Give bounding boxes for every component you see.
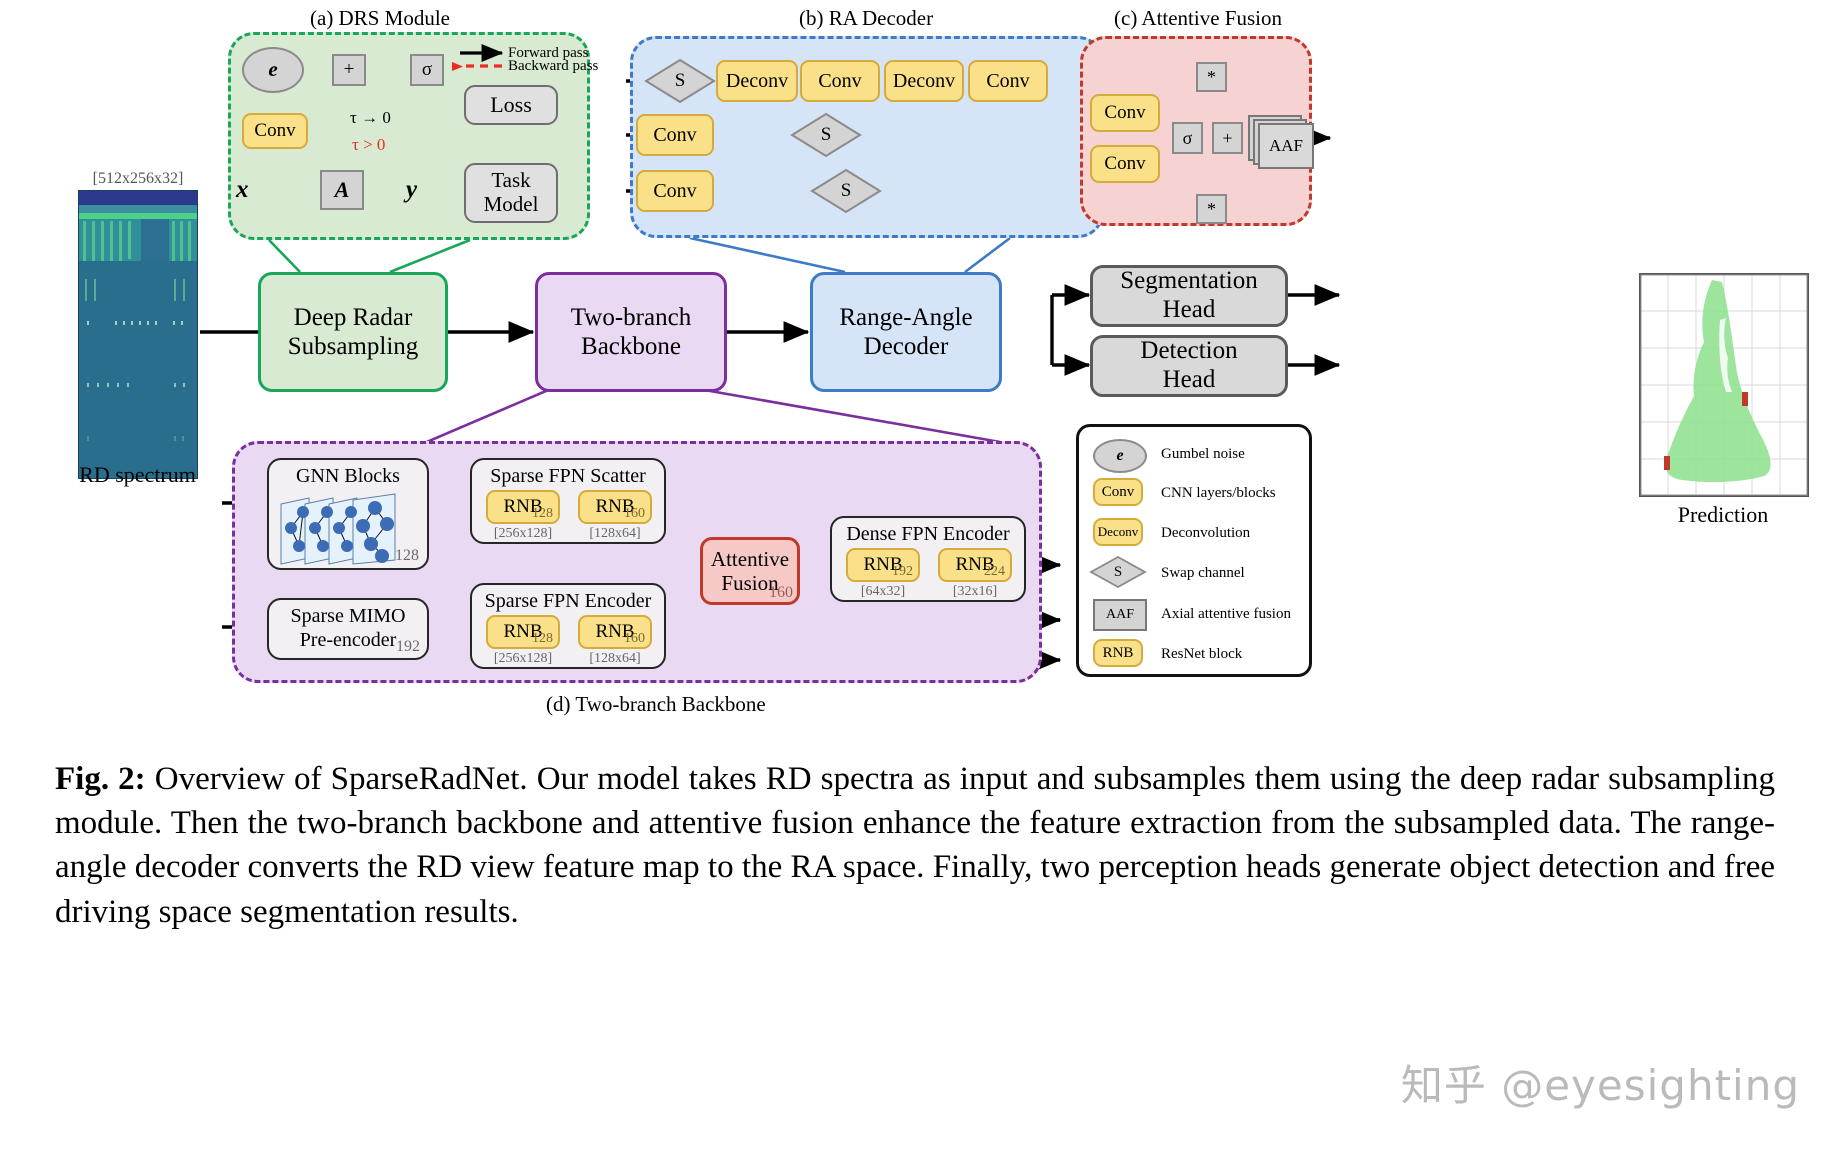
stage-drs-label: Deep Radar Subsampling xyxy=(288,303,419,362)
legend-swap-icon: S xyxy=(1089,555,1147,589)
sparse-fpn-encoder-title: Sparse FPN Encoder xyxy=(472,590,664,613)
symbol-legend: e Gumbel noise Conv CNN layers/blocks De… xyxy=(1076,424,1312,677)
encoder-rnb-block-2: RNB 160 xyxy=(578,615,652,649)
af-sigma-label: σ xyxy=(1183,128,1193,148)
dense-rnb-block-1: RNB 192 xyxy=(846,548,920,582)
gnn-blocks-group: GNN Blocks xyxy=(267,458,429,570)
detection-head[interactable]: Detection Head xyxy=(1090,335,1288,397)
af-conv-bottom: Conv xyxy=(1090,145,1160,183)
attentive-fusion-channels: 160 xyxy=(769,584,793,602)
af-conv-bottom-label: Conv xyxy=(1104,153,1145,174)
legend-gumbel-label: Gumbel noise xyxy=(1161,446,1245,463)
af-multiply-bottom: * xyxy=(1196,194,1227,224)
dense-rnb-channels-1: 192 xyxy=(892,564,913,580)
figure-root: [512x256x32] xyxy=(0,0,1822,1168)
tau-positive-annotation: τ > 0 xyxy=(352,135,385,155)
swap-channel-diamond-3: S xyxy=(810,168,882,214)
legend-conv-label: CNN layers/blocks xyxy=(1161,485,1276,502)
gumbel-noise-label: e xyxy=(268,58,277,82)
tau-to-zero-annotation: τ → 0 xyxy=(350,108,391,128)
ra-conv-label-3: Conv xyxy=(653,124,696,146)
ra-deconv-label-1: Deconv xyxy=(726,70,788,92)
input-shape-label: [512x256x32] xyxy=(78,170,198,188)
scatter-rnb-shape-1: [256x128] xyxy=(486,526,560,542)
swap-channel-diamond-2: S xyxy=(790,112,862,158)
panel-c-title: (c) Attentive Fusion xyxy=(1114,6,1282,31)
scatter-rnb-shape-2: [128x64] xyxy=(578,526,652,542)
ra-conv-label-4: Conv xyxy=(653,180,696,202)
legend-deconv-symbol: Deconv xyxy=(1098,525,1138,540)
prediction-caption: Prediction xyxy=(1639,502,1807,528)
legend-aaf-label: Axial attentive fusion xyxy=(1161,606,1291,623)
aaf-stack-block: AAF xyxy=(1248,115,1312,165)
legend-conv-icon: Conv xyxy=(1093,478,1143,506)
gnn-channel-count: 128 xyxy=(395,547,419,565)
subsampling-matrix-node: A xyxy=(320,170,364,210)
stage-two-branch-backbone[interactable]: Two-branch Backbone xyxy=(535,272,727,392)
figure-caption-label: Fig. 2: xyxy=(55,761,146,797)
ra-conv-block-3: Conv xyxy=(636,114,714,156)
stage-decoder-label: Range-Angle Decoder xyxy=(839,303,972,362)
ra-deconv-block-1: Deconv xyxy=(716,60,798,102)
legend-rnb-icon: RNB xyxy=(1093,639,1143,667)
prediction-image xyxy=(1639,273,1809,497)
legend-gumbel-symbol: e xyxy=(1116,447,1123,465)
dense-rnb-shape-1: [64x32] xyxy=(846,584,920,600)
aaf-label: AAF xyxy=(1269,136,1303,156)
task-model-block: Task Model xyxy=(464,163,558,223)
sparse-fpn-scatter-title: Sparse FPN Scatter xyxy=(472,465,664,488)
dense-fpn-encoder-group: Dense FPN Encoder RNB 192 [64x32] RNB 22… xyxy=(830,516,1026,602)
swap-channel-diamond-1: S xyxy=(644,58,716,104)
af-add-label: + xyxy=(1222,128,1232,148)
encoder-rnb-shape-1: [256x128] xyxy=(486,651,560,667)
af-multiply-top: * xyxy=(1196,62,1227,92)
loss-label: Loss xyxy=(490,93,532,118)
af-sigma-operator: σ xyxy=(1172,122,1203,154)
sigmoid-operator-label: σ xyxy=(422,59,432,80)
ra-conv-block-4: Conv xyxy=(636,170,714,212)
add-operator: + xyxy=(332,54,366,86)
legend-deconv-label: Deconvolution xyxy=(1161,525,1250,542)
task-model-label: Task Model xyxy=(484,169,539,216)
encoder-rnb-shape-2: [128x64] xyxy=(578,651,652,667)
legend-aaf-icon: AAF xyxy=(1093,599,1147,631)
output-y-symbol: y xyxy=(406,176,417,204)
ra-conv-block-2: Conv xyxy=(968,60,1048,102)
legend-gumbel-icon: e xyxy=(1093,439,1147,473)
stage-range-angle-decoder[interactable]: Range-Angle Decoder xyxy=(810,272,1002,392)
legend-swap-label: Swap channel xyxy=(1161,565,1245,582)
input-x-symbol: x xyxy=(236,176,249,204)
af-multiply-bottom-label: * xyxy=(1207,199,1216,219)
stage-deep-radar-subsampling[interactable]: Deep Radar Subsampling xyxy=(258,272,448,392)
legend-conv-symbol: Conv xyxy=(1102,484,1135,501)
drs-conv-label: Conv xyxy=(254,120,295,141)
legend-rnb-label: ResNet block xyxy=(1161,646,1242,663)
sparse-fpn-encoder-group: Sparse FPN Encoder RNB 128 [256x128] RNB… xyxy=(470,583,666,669)
swap-channel-label-3: S xyxy=(841,180,852,201)
legend-swap-symbol: S xyxy=(1089,555,1147,589)
add-operator-label: + xyxy=(344,59,355,80)
swap-channel-label-1: S xyxy=(675,70,686,91)
scatter-rnb-block-1: RNB 128 xyxy=(486,490,560,524)
panel-b-title: (b) RA Decoder xyxy=(799,6,933,31)
encoder-rnb-channels-1: 128 xyxy=(532,631,553,647)
loss-block: Loss xyxy=(464,85,558,125)
sparse-mimo-pre-encoder-group: Sparse MIMO Pre-encoder 192 xyxy=(267,598,429,660)
dense-fpn-encoder-title: Dense FPN Encoder xyxy=(832,523,1024,546)
af-add-operator: + xyxy=(1212,122,1243,154)
scatter-rnb-channels-2: 160 xyxy=(624,506,645,522)
encoder-rnb-channels-2: 160 xyxy=(624,631,645,647)
scatter-rnb-block-2: RNB 160 xyxy=(578,490,652,524)
gnn-blocks-title: GNN Blocks xyxy=(269,465,427,488)
legend-deconv-icon: Deconv xyxy=(1093,518,1143,546)
detection-head-label: Detection Head xyxy=(1140,337,1237,395)
backward-pass-legend-label: Backward pass xyxy=(508,58,598,75)
ra-deconv-block-2: Deconv xyxy=(884,60,964,102)
ra-deconv-label-2: Deconv xyxy=(893,70,955,92)
rd-spectrum-caption: RD spectrum xyxy=(60,462,215,488)
af-conv-top-label: Conv xyxy=(1104,102,1145,123)
af-conv-top: Conv xyxy=(1090,94,1160,132)
sigmoid-operator: σ xyxy=(410,54,444,86)
ra-conv-block-1: Conv xyxy=(800,60,880,102)
sparse-mimo-pre-encoder-label: Sparse MIMO Pre-encoder xyxy=(291,605,406,652)
af-multiply-top-label: * xyxy=(1207,67,1216,87)
watermark: 知乎 @eyesighting xyxy=(1401,1052,1800,1113)
ra-conv-label-2: Conv xyxy=(986,70,1029,92)
sparse-fpn-scatter-group: Sparse FPN Scatter RNB 128 [256x128] RNB… xyxy=(470,458,666,544)
legend-aaf-symbol: AAF xyxy=(1106,607,1134,623)
drs-conv-block: Conv xyxy=(242,113,308,149)
ra-conv-label-1: Conv xyxy=(818,70,861,92)
subsampling-matrix-label: A xyxy=(335,178,350,203)
rd-spectrum-image xyxy=(78,190,198,479)
panel-a-title: (a) DRS Module xyxy=(310,6,450,31)
attentive-fusion-block[interactable]: Attentive Fusion 160 xyxy=(700,537,800,605)
legend-rnb-symbol: RNB xyxy=(1103,645,1134,662)
segmentation-head-label: Segmentation Head xyxy=(1120,267,1257,325)
pre-encoder-channel-count: 192 xyxy=(396,638,420,656)
figure-caption: Fig. 2: Overview of SparseRadNet. Our mo… xyxy=(55,757,1775,934)
figure-caption-text: Overview of SparseRadNet. Our model take… xyxy=(55,761,1775,930)
gumbel-noise-node: e xyxy=(242,47,304,93)
stage-backbone-label: Two-branch Backbone xyxy=(571,303,691,362)
dense-rnb-block-2: RNB 224 xyxy=(938,548,1012,582)
segmentation-head[interactable]: Segmentation Head xyxy=(1090,265,1288,327)
dense-rnb-channels-2: 224 xyxy=(984,564,1005,580)
encoder-rnb-block-1: RNB 128 xyxy=(486,615,560,649)
panel-d-title: (d) Two-branch Backbone xyxy=(546,692,766,717)
swap-channel-label-2: S xyxy=(821,124,832,145)
scatter-rnb-channels-1: 128 xyxy=(532,506,553,522)
dense-rnb-shape-2: [32x16] xyxy=(938,584,1012,600)
